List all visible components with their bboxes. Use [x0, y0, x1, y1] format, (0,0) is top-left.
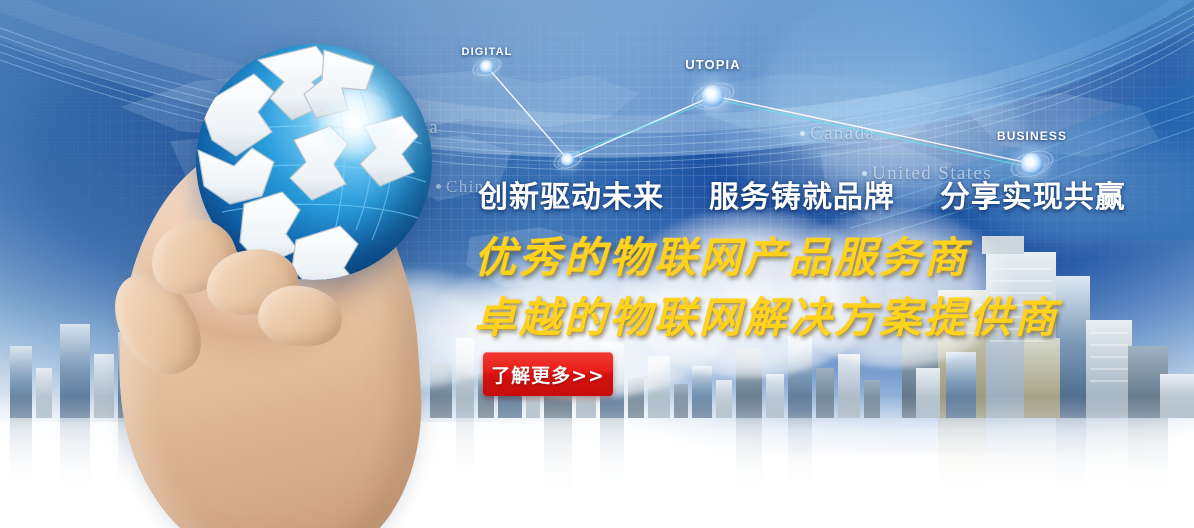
banner-headline: 创新驱动未来 服务铸就品牌 分享实现共赢: [478, 172, 1126, 216]
headline-part-1: 创新驱动未来: [478, 180, 664, 215]
headline-part-3: 分享实现共赢: [940, 180, 1126, 215]
banner-copy: 创新驱动未来 服务铸就品牌 分享实现共赢 优秀的物联网产品服务商 卓越的物联网解…: [0, 0, 1194, 528]
hero-banner: Russia Eu China Canada United States Aus…: [0, 0, 1194, 528]
headline-part-2: 服务铸就品牌: [709, 180, 895, 215]
banner-slogan-line-2: 卓越的物联网解决方案提供商: [474, 284, 1059, 345]
banner-slogan-line-1: 优秀的物联网产品服务商: [474, 224, 969, 285]
learn-more-button[interactable]: 了解更多>>: [483, 352, 613, 396]
